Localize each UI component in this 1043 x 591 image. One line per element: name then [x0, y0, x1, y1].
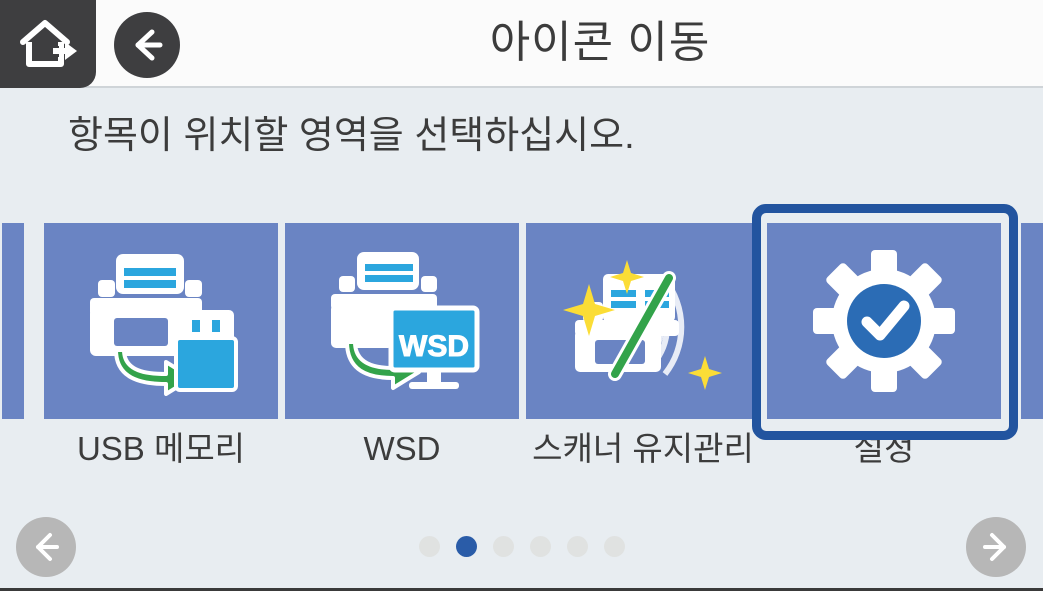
back-button[interactable] [114, 12, 180, 78]
tile-scanner-maintenance-thumb[interactable] [526, 223, 760, 419]
page-dot-5[interactable] [567, 536, 588, 557]
page-dot-1[interactable] [419, 536, 440, 557]
page-dot-2[interactable] [456, 536, 477, 557]
tile-settings-label: 설정 [767, 431, 1001, 468]
tile-wsd-thumb[interactable]: WSD [285, 223, 519, 419]
instruction-text: 항목이 위치할 영역을 선택하십시오. [68, 104, 635, 159]
arrow-right-icon [977, 528, 1015, 566]
page-dot-6[interactable] [604, 536, 625, 557]
partial-tile-left[interactable] [2, 223, 24, 419]
printer-touch-panel-screen: 아이콘 이동 항목이 위치할 영역을 선택하십시오. [0, 0, 1043, 591]
next-page-button[interactable] [966, 517, 1026, 577]
bottom-nav-bar [0, 508, 1043, 588]
page-dot-3[interactable] [493, 536, 514, 557]
svg-text:WSD: WSD [399, 330, 469, 363]
page-dot-4[interactable] [530, 536, 551, 557]
tile-usb-memory-label: USB 메모리 [44, 431, 278, 468]
scan-to-wsd-icon: WSD [317, 246, 487, 396]
page-title: 아이콘 이동 [200, 0, 1000, 86]
tile-wsd[interactable]: WSD WSD [285, 223, 519, 468]
page-indicator-dots [0, 536, 1043, 557]
home-exit-icon [17, 16, 79, 72]
settings-gear-check-icon [809, 246, 959, 396]
tile-settings[interactable]: 설정 [767, 223, 1001, 468]
tile-settings-thumb[interactable] [767, 223, 1001, 419]
tile-wsd-label: WSD [285, 431, 519, 468]
tile-usb-memory[interactable]: USB 메모리 [44, 223, 278, 468]
back-arrow-icon [126, 24, 168, 66]
tile-scanner-maintenance-label: 스캐너 유지관리 [526, 431, 760, 468]
scan-to-usb-icon [76, 246, 246, 396]
home-button[interactable] [0, 0, 96, 88]
tile-usb-memory-thumb[interactable] [44, 223, 278, 419]
header-bar: 아이콘 이동 [0, 0, 1043, 88]
tile-scanner-maintenance[interactable]: 스캐너 유지관리 [526, 223, 760, 468]
partial-tile-right[interactable] [1021, 223, 1043, 419]
scanner-maintenance-icon [553, 246, 733, 396]
icon-carousel: USB 메모리 [0, 185, 1043, 510]
